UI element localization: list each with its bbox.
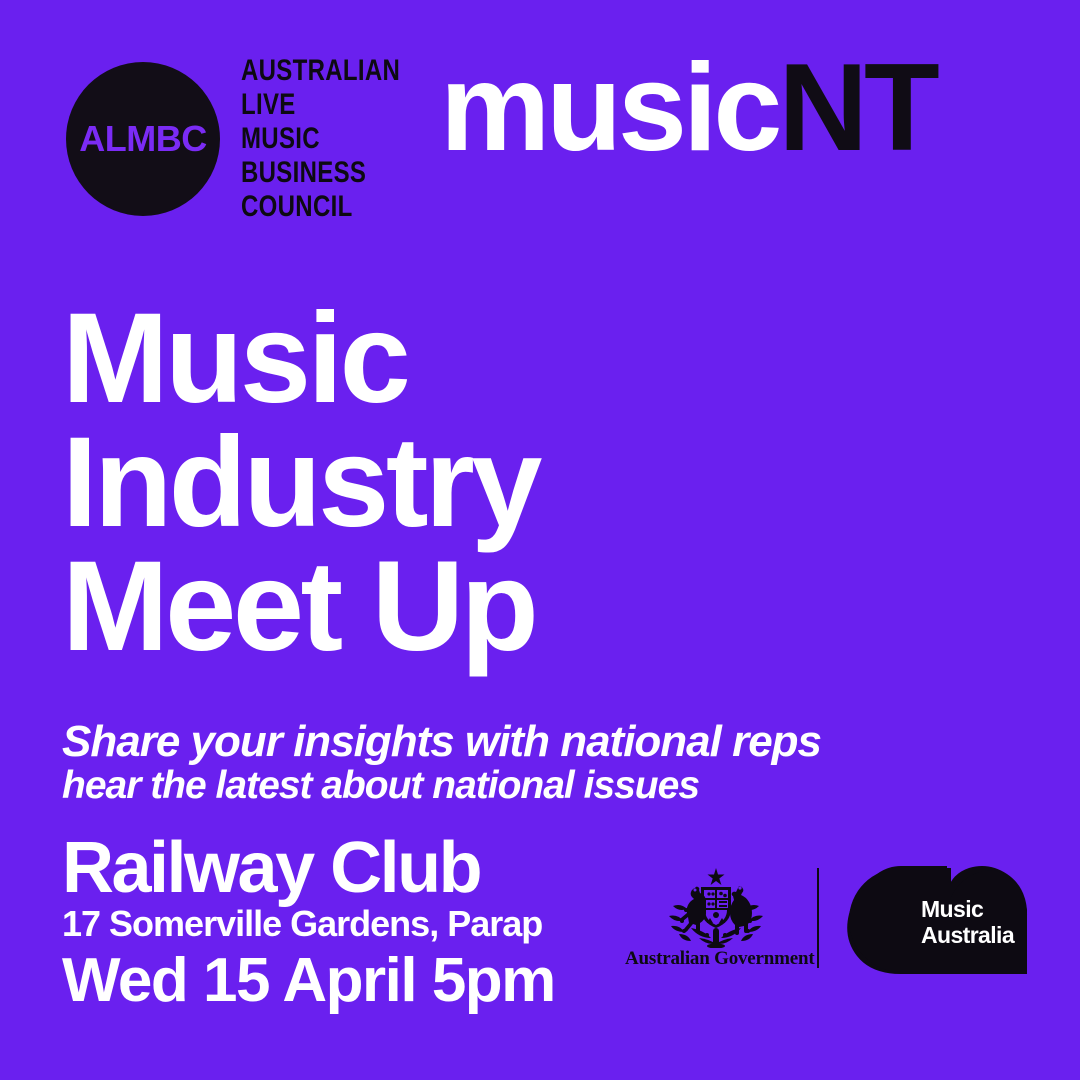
- venue-name: Railway Club: [62, 833, 542, 903]
- musicnt-logo: musicNT: [440, 48, 936, 168]
- subtitle: Share your insights with national reps h…: [62, 718, 821, 807]
- page-title: Music Industry Meet Up: [62, 297, 539, 669]
- australian-government-label: Australian Government: [625, 948, 807, 970]
- logo-divider: [817, 868, 819, 968]
- musicnt-word-nt: NT: [778, 39, 935, 177]
- event-datetime: Wed 15 April 5pm: [62, 950, 555, 1012]
- almbc-word-line-5: COUNCIL: [241, 190, 400, 224]
- commonwealth-coat-of-arms-icon: [651, 866, 781, 948]
- almbc-monogram: ALMBC: [66, 62, 220, 216]
- music-australia-label: Music Australia: [921, 896, 1014, 948]
- music-australia-logo: Music Australia: [847, 866, 1035, 974]
- subtitle-line-1: Share your insights with national reps: [62, 718, 821, 765]
- subtitle-line-2: hear the latest about national issues: [62, 765, 821, 807]
- almbc-logo: ALMBC AUSTRALIAN LIVE MUSIC BUSINESS COU…: [66, 62, 406, 222]
- music-australia-line-2: Australia: [921, 922, 1014, 948]
- poster-canvas: ALMBC AUSTRALIAN LIVE MUSIC BUSINESS COU…: [0, 0, 1080, 1080]
- venue-block: Railway Club 17 Somerville Gardens, Para…: [62, 833, 542, 945]
- almbc-word-line-4: BUSINESS: [241, 156, 400, 190]
- headline-line-2: Industry: [62, 421, 539, 545]
- venue-address: 17 Somerville Gardens, Parap: [62, 903, 542, 945]
- musicnt-word-music: music: [440, 39, 778, 177]
- headline-line-1: Music: [62, 297, 539, 421]
- australian-government-logo: Australian Government: [625, 866, 807, 978]
- almbc-word-line-2: LIVE: [241, 88, 400, 122]
- music-australia-line-1: Music: [921, 896, 1014, 922]
- almbc-word-line-3: MUSIC: [241, 122, 400, 156]
- almbc-wordmark: AUSTRALIAN LIVE MUSIC BUSINESS COUNCIL: [241, 54, 400, 224]
- headline-line-3: Meet Up: [62, 545, 539, 669]
- footer-logos: Australian Government Music Australia: [625, 866, 1035, 981]
- almbc-word-line-1: AUSTRALIAN: [241, 54, 400, 88]
